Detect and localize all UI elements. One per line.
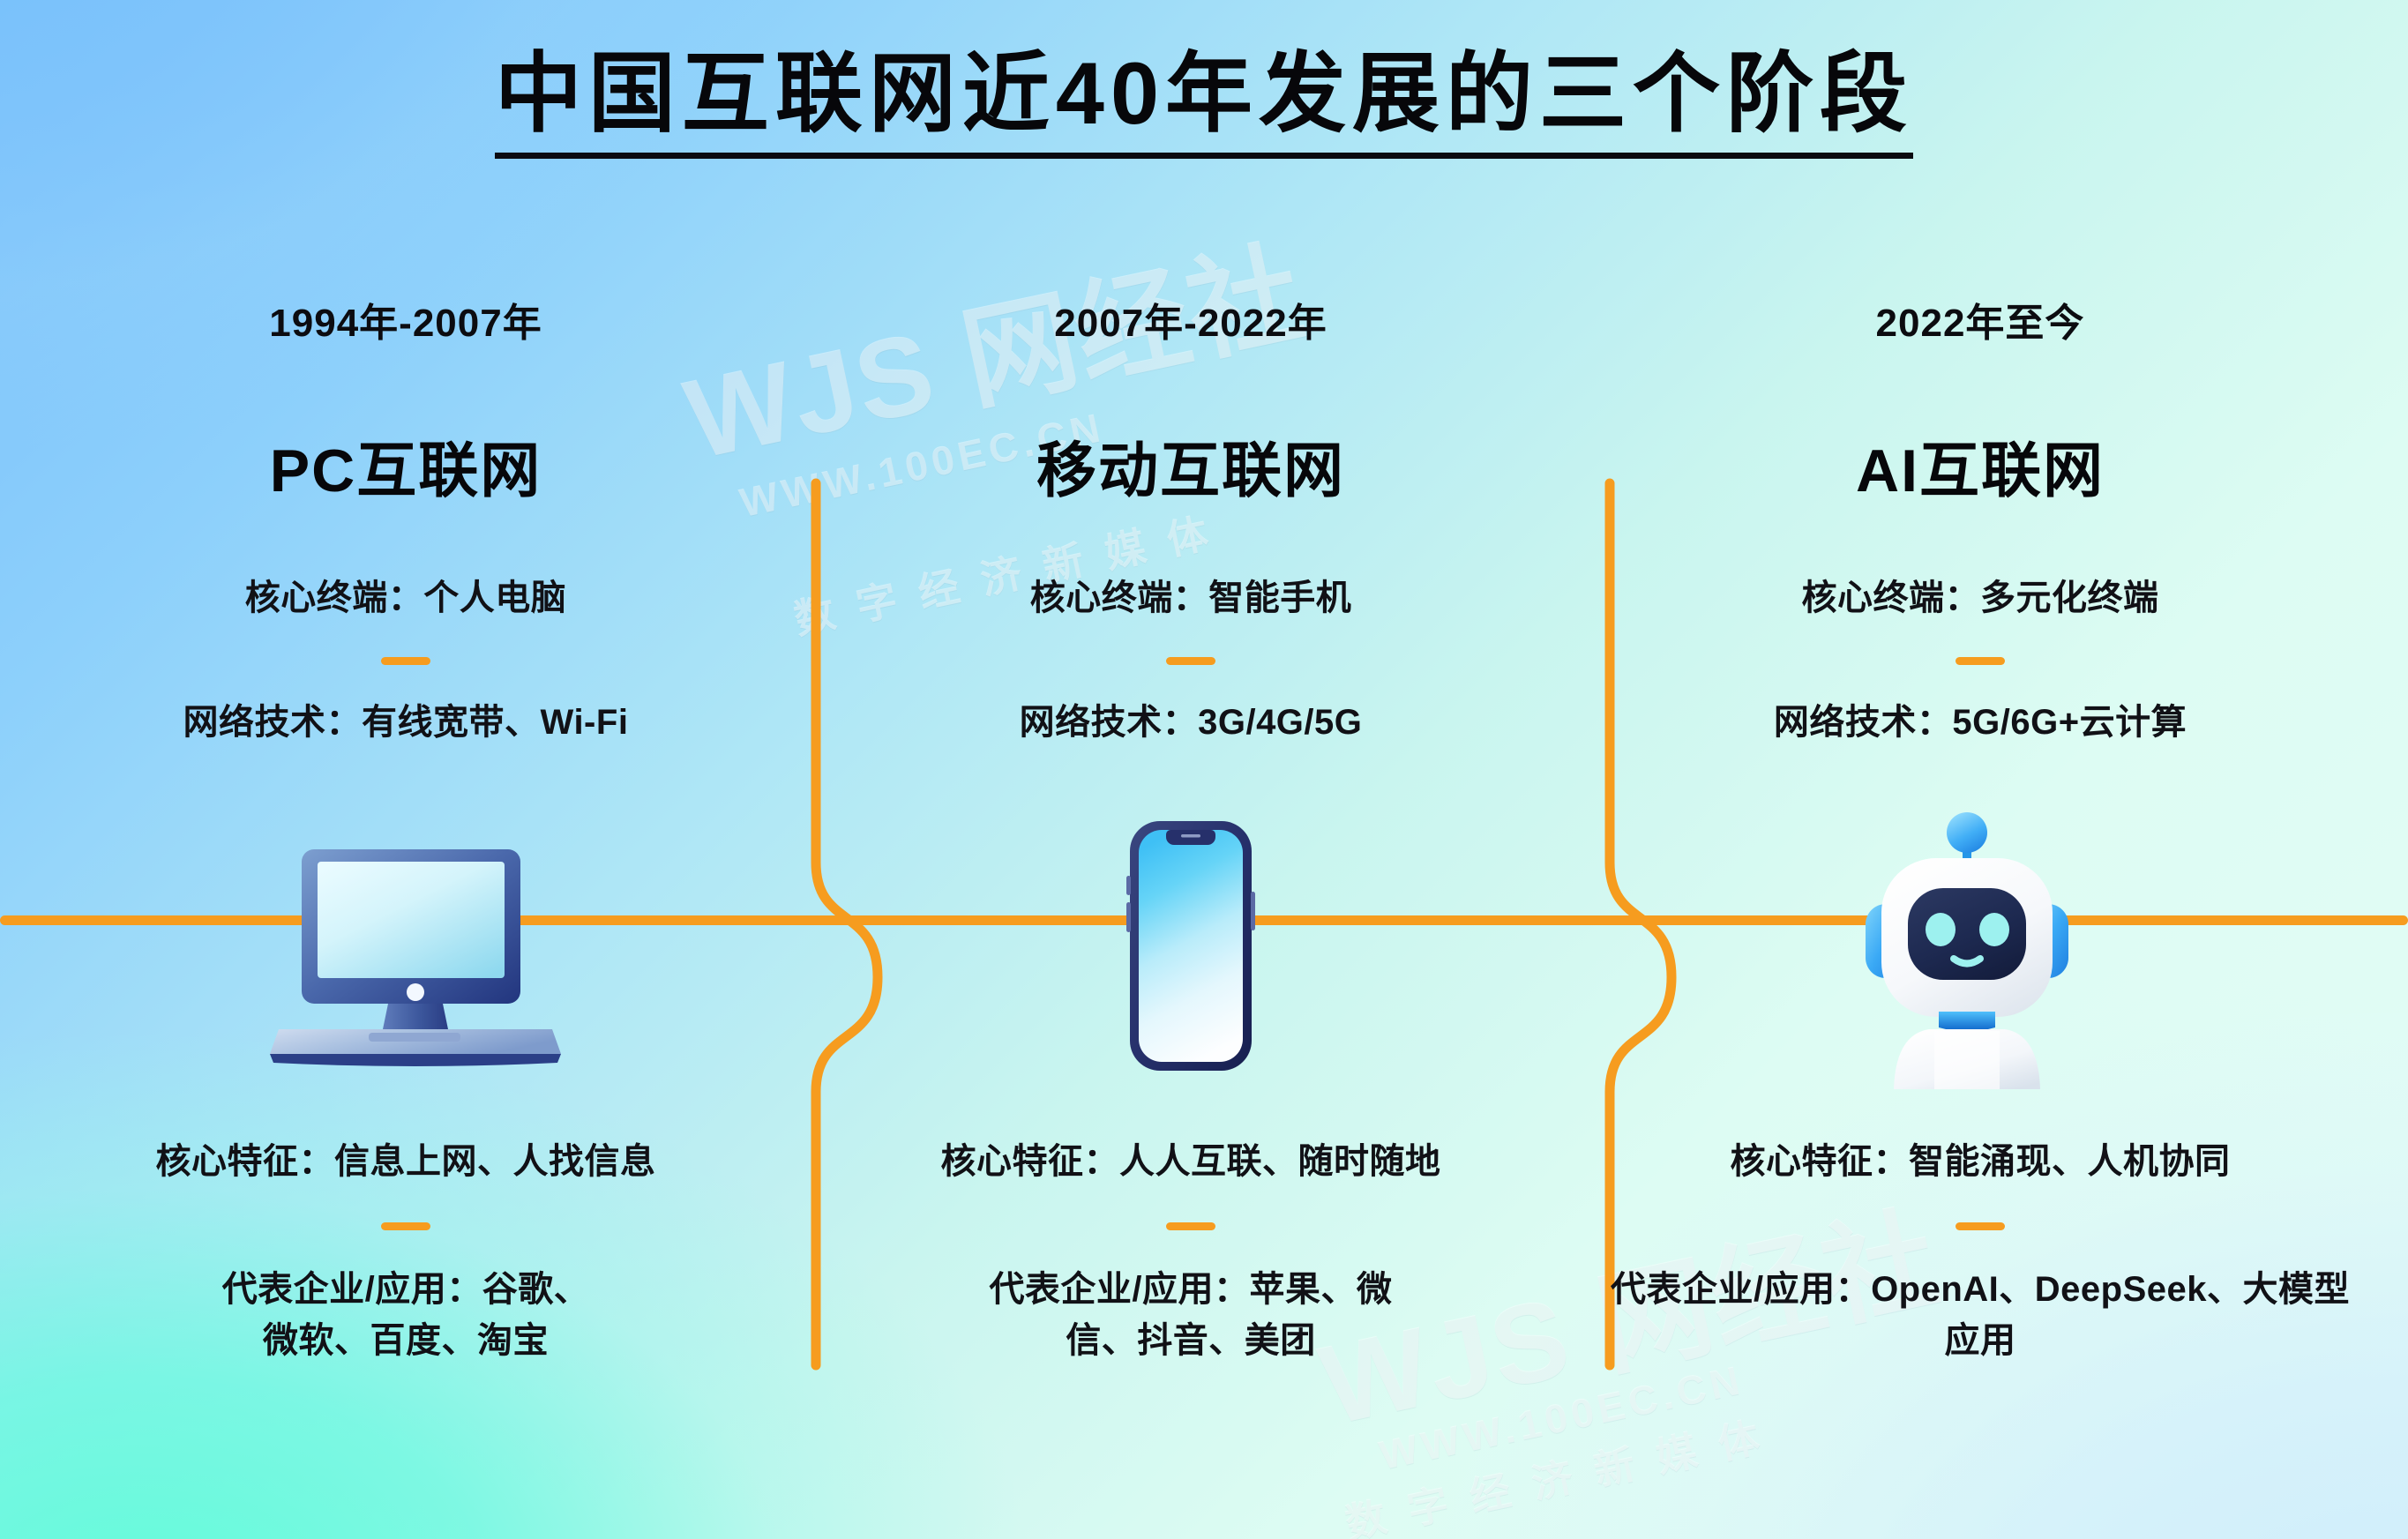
page-title-container: 中国互联网近40年发展的三个阶段 bbox=[0, 46, 2408, 159]
page-title: 中国互联网近40年发展的三个阶段 bbox=[495, 46, 1913, 159]
stage-core-feature: 核心特征：智能涌现、人机协同 bbox=[1592, 1136, 2368, 1187]
robot-icon bbox=[1839, 807, 2095, 1089]
spec-divider-rule bbox=[1956, 657, 2005, 665]
stage-core-feature: 核心特征：人人互联、随时随地 bbox=[803, 1136, 1579, 1187]
stage-column-mobile-internet: 2007年-2022年 移动互联网 核心终端：智能手机 网络技术：3G/4G/5… bbox=[811, 291, 1570, 746]
stage-bottom-mobile-internet: 核心特征：人人互联、随时随地 代表企业/应用：苹果、微信、抖音、美团 bbox=[803, 1136, 1579, 1366]
stage-network-tech: 网络技术：有线宽带、Wi-Fi bbox=[26, 699, 785, 746]
stage-column-ai-internet: 2022年至今 AI互联网 核心终端：多元化终端 网络技术：5G/6G+云计算 bbox=[1601, 291, 2359, 746]
icon-slot-robot bbox=[1839, 807, 2095, 1089]
stage-bottom-pc-internet: 核心特征：信息上网、人找信息 代表企业/应用：谷歌、微软、百度、淘宝 bbox=[18, 1136, 794, 1366]
stage-years: 1994年-2007年 bbox=[26, 291, 785, 347]
stage-name: 移动互联网 bbox=[811, 422, 1570, 509]
stage-years: 2007年-2022年 bbox=[811, 291, 1570, 347]
desktop-computer-icon bbox=[247, 833, 565, 1072]
icon-slot-smartphone bbox=[1116, 816, 1266, 1076]
bottom-divider-rule bbox=[1956, 1222, 2005, 1230]
stage-companies: 代表企业/应用：苹果、微信、抖音、美团 bbox=[803, 1264, 1579, 1366]
stage-core-terminal: 核心终端：智能手机 bbox=[811, 574, 1570, 622]
bottom-divider-rule bbox=[1166, 1222, 1215, 1230]
stage-network-tech: 网络技术：3G/4G/5G bbox=[811, 699, 1570, 746]
stage-name: AI互联网 bbox=[1601, 422, 2359, 509]
stage-years: 2022年至今 bbox=[1601, 291, 2359, 347]
stage-companies: 代表企业/应用：OpenAI、DeepSeek、大模型应用 bbox=[1592, 1264, 2368, 1366]
icon-slot-desktop-computer bbox=[247, 833, 565, 1072]
stage-core-terminal: 核心终端：个人电脑 bbox=[26, 574, 785, 622]
stage-bottom-ai-internet: 核心特征：智能涌现、人机协同 代表企业/应用：OpenAI、DeepSeek、大… bbox=[1592, 1136, 2368, 1366]
smartphone-icon bbox=[1116, 816, 1266, 1076]
stage-column-pc-internet: 1994年-2007年 PC互联网 核心终端：个人电脑 网络技术：有线宽带、Wi… bbox=[26, 291, 785, 746]
bottom-divider-rule bbox=[381, 1222, 430, 1230]
stage-network-tech: 网络技术：5G/6G+云计算 bbox=[1601, 699, 2359, 746]
spec-divider-rule bbox=[381, 657, 430, 665]
infographic-canvas: WJS 网经社 WWW.100EC.CN 数字经济新媒体 WJS 网经社 WWW… bbox=[0, 0, 2408, 1539]
stage-name: PC互联网 bbox=[26, 422, 785, 509]
stage-companies: 代表企业/应用：谷歌、微软、百度、淘宝 bbox=[18, 1264, 794, 1366]
stage-core-terminal: 核心终端：多元化终端 bbox=[1601, 574, 2359, 622]
spec-divider-rule bbox=[1166, 657, 1215, 665]
stage-core-feature: 核心特征：信息上网、人找信息 bbox=[18, 1136, 794, 1187]
